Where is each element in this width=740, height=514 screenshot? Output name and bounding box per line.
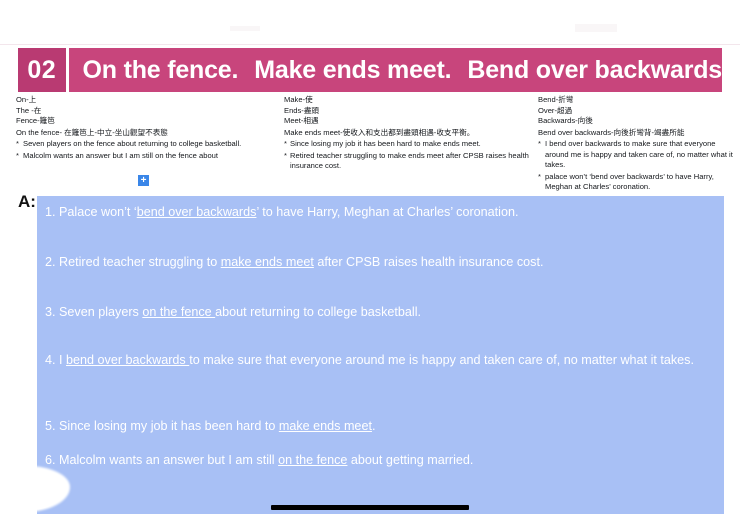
- answer-label: A:: [18, 192, 36, 212]
- title-phrase-2: Make ends meet.: [254, 56, 451, 85]
- gloss-line: Make-使: [284, 95, 532, 106]
- title-phrase-3: Bend over backwards: [467, 56, 722, 85]
- bullet-marker-icon: *: [16, 151, 23, 162]
- list-item: * Seven players on the fence about retur…: [16, 139, 278, 150]
- answer-number: 5.: [45, 419, 56, 433]
- bullet-marker-icon: *: [538, 172, 545, 193]
- idiom-definition: On the fence- 在籬笆上-中立-坐山觀望不表態: [16, 128, 278, 139]
- answer-text-pre: Retired teacher struggling to: [59, 255, 221, 269]
- slide-number-badge: 02: [18, 48, 66, 92]
- bullet-marker-icon: *: [538, 139, 545, 171]
- answer-idiom: bend over backwards: [137, 205, 257, 219]
- answer-number: 4.: [45, 353, 56, 367]
- answer-text-pre: Palace won’t ‘: [59, 205, 137, 219]
- answer-idiom: make ends meet: [279, 419, 372, 433]
- notes-column-bend-over-backwards: Bend-折彎 Over-超過 Backwards-向後 Bend over b…: [538, 95, 734, 193]
- list-item: * palace won’t ‘bend over backwards’ to …: [538, 172, 734, 193]
- example-sentence: Retired teacher struggling to make ends …: [290, 151, 532, 172]
- example-sentence: I bend over backwards to make sure that …: [545, 139, 734, 171]
- gloss-line: Meet-相遇: [284, 116, 532, 127]
- bullet-marker-icon: *: [16, 139, 23, 150]
- page-title: On the fence. Make ends meet. Bend over …: [69, 48, 723, 92]
- answer-item: 3. Seven players on the fence about retu…: [45, 304, 712, 321]
- add-button[interactable]: +: [138, 175, 149, 186]
- gloss-line: Backwards-向後: [538, 116, 734, 127]
- answer-text-pre: I: [59, 353, 66, 367]
- answer-number: 3.: [45, 305, 56, 319]
- slide-title-bar: 02 On the fence. Make ends meet. Bend ov…: [18, 48, 722, 92]
- gloss-line: Fence-籬笆: [16, 116, 278, 127]
- notes-area: On-上 The -在 Fence-籬笆 On the fence- 在籬笆上-…: [0, 95, 740, 195]
- top-artifact-right: [575, 24, 617, 32]
- list-item: * Retired teacher struggling to make end…: [284, 151, 532, 172]
- gloss-line: Bend-折彎: [538, 95, 734, 106]
- slide-canvas: 02 On the fence. Make ends meet. Bend ov…: [0, 0, 740, 514]
- list-item: * Malcolm wants an answer but I am still…: [16, 151, 278, 162]
- gloss-line: Over-超過: [538, 106, 734, 117]
- answer-number: 6.: [45, 453, 56, 467]
- example-sentence: palace won’t ‘bend over backwards’ to ha…: [545, 172, 734, 193]
- answer-item: 6. Malcolm wants an answer but I am stil…: [45, 452, 712, 469]
- title-phrase-1: On the fence.: [83, 56, 239, 85]
- answer-panel: 1. Palace won’t ‘bend over backwards’ to…: [37, 196, 724, 514]
- top-hairline-divider: [0, 44, 740, 45]
- answer-item: 5. Since losing my job it has been hard …: [45, 418, 712, 435]
- answer-item: 2. Retired teacher struggling to make en…: [45, 254, 712, 271]
- answer-idiom: on the fence: [142, 305, 215, 319]
- idiom-definition: Make ends meet-使收入和支出都到盡頭相遇-收支平衡。: [284, 128, 532, 139]
- answer-text-post: to make sure that everyone around me is …: [189, 353, 694, 367]
- example-sentence: Malcolm wants an answer but I am still o…: [23, 151, 278, 162]
- gloss-line: Ends-盡頭: [284, 106, 532, 117]
- answer-text-pre: Since losing my job it has been hard to: [59, 419, 279, 433]
- answer-idiom: bend over backwards: [66, 353, 189, 367]
- example-sentence: Seven players on the fence about returni…: [23, 139, 278, 150]
- notes-column-on-the-fence: On-上 The -在 Fence-籬笆 On the fence- 在籬笆上-…: [16, 95, 278, 161]
- answer-item: 4. I bend over backwards to make sure th…: [45, 352, 712, 369]
- answer-number: 2.: [45, 255, 56, 269]
- answer-idiom: make ends meet: [221, 255, 314, 269]
- answer-text-post: ’ to have Harry, Meghan at Charles’ coro…: [256, 205, 518, 219]
- answer-number: 1.: [45, 205, 56, 219]
- answer-text-post: about returning to college basketball.: [215, 305, 421, 319]
- top-artifact-left: [230, 26, 260, 31]
- answer-text-pre: Seven players: [59, 305, 142, 319]
- example-sentence: Since losing my job it has been hard to …: [290, 139, 532, 150]
- answer-idiom: on the fence: [278, 453, 347, 467]
- gloss-line: The -在: [16, 106, 278, 117]
- list-item: * Since losing my job it has been hard t…: [284, 139, 532, 150]
- progress-bar[interactable]: [271, 505, 469, 510]
- list-item: * I bend over backwards to make sure tha…: [538, 139, 734, 171]
- idiom-definition: Bend over backwards-向後折彎背-竭盡所能: [538, 128, 734, 139]
- answer-item: 1. Palace won’t ‘bend over backwards’ to…: [45, 204, 712, 221]
- answer-text-pre: Malcolm wants an answer but I am still: [59, 453, 278, 467]
- answer-text-post: about getting married.: [347, 453, 473, 467]
- notes-column-make-ends-meet: Make-使 Ends-盡頭 Meet-相遇 Make ends meet-使收…: [284, 95, 532, 172]
- answer-text-post: after CPSB raises health insurance cost.: [314, 255, 544, 269]
- answer-text-post: .: [372, 419, 376, 433]
- white-blob-overlay-inner: [0, 470, 62, 510]
- gloss-line: On-上: [16, 95, 278, 106]
